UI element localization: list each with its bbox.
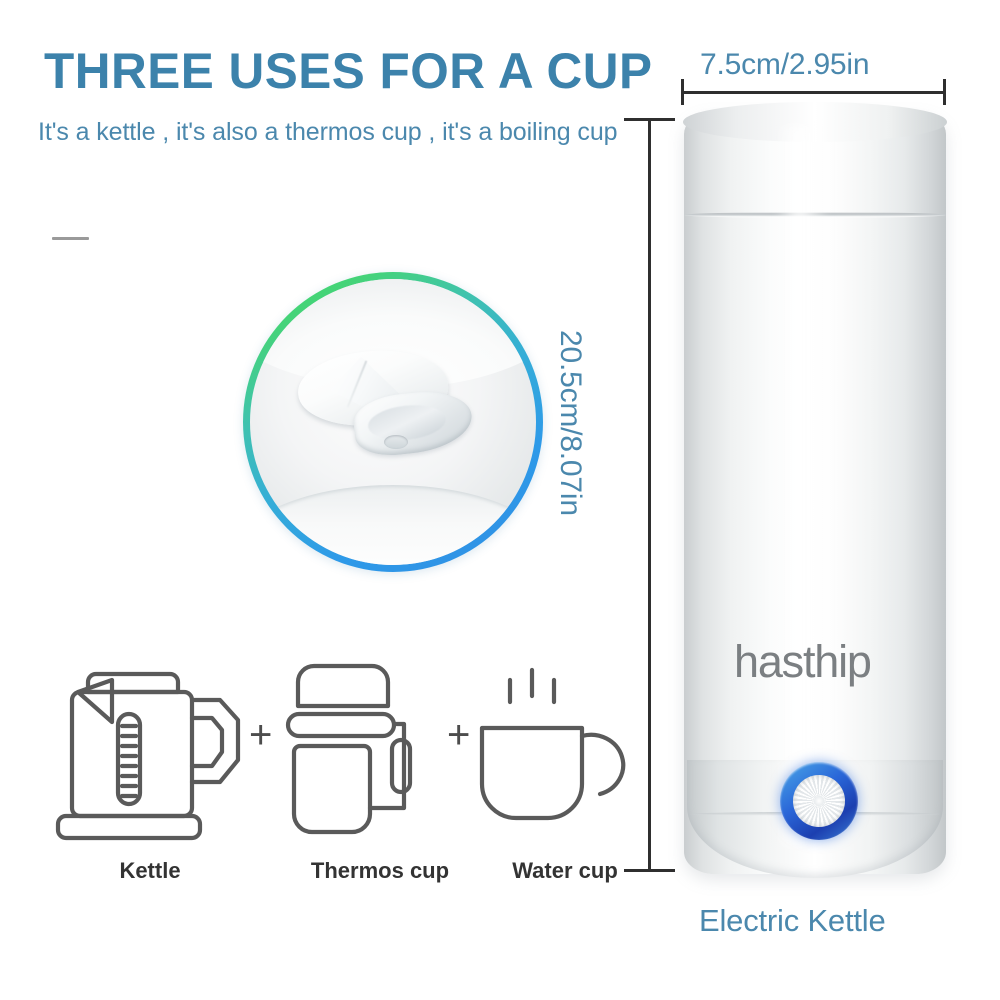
water-cup-icon [470, 640, 660, 850]
thermos-cup-icon [270, 640, 470, 850]
kettle-lid-seam [684, 212, 946, 218]
product-infographic: THREE USES FOR A CUP It's a kettle , it'… [0, 0, 1000, 1000]
width-dimension-line [681, 91, 946, 94]
usage-icons-row: Kettle Thermos cup [50, 640, 630, 900]
usage-label-thermos-cup: Thermos cup [311, 858, 449, 884]
height-dimension-label: 20.5cm/8.07in [553, 330, 587, 516]
width-dimension-label: 7.5cm/2.95in [700, 48, 869, 82]
inset-photo [250, 279, 536, 565]
lid-detail-closeup [243, 272, 543, 572]
kettle-icon [50, 640, 250, 850]
usage-item-kettle: Kettle [50, 640, 250, 890]
power-button-center [793, 775, 845, 827]
usage-item-thermos-cup: Thermos cup [270, 640, 490, 890]
page-title: THREE USES FOR A CUP [44, 46, 658, 96]
lid-flap-interior [366, 402, 447, 444]
kettle-lid-assembly [298, 351, 474, 461]
lid-hinge [384, 435, 408, 449]
usage-item-water-cup: Water cup [470, 640, 660, 890]
decorative-dash [52, 237, 89, 240]
usage-label-water-cup: Water cup [512, 858, 618, 884]
product-caption: Electric Kettle [699, 903, 886, 939]
inset-gradient-ring [243, 272, 543, 572]
page-subtitle: It's a kettle , it's also a thermos cup … [38, 118, 678, 147]
product-image-electric-kettle: hasthip [684, 112, 946, 874]
kettle-lid-top [683, 102, 947, 142]
width-dimension-cap-left [681, 79, 684, 105]
height-dimension-cap-top [624, 118, 675, 121]
brand-logo: hasthip [734, 639, 871, 684]
usage-label-kettle: Kettle [119, 858, 180, 884]
power-button[interactable] [780, 762, 858, 840]
width-dimension-cap-right [943, 79, 946, 105]
